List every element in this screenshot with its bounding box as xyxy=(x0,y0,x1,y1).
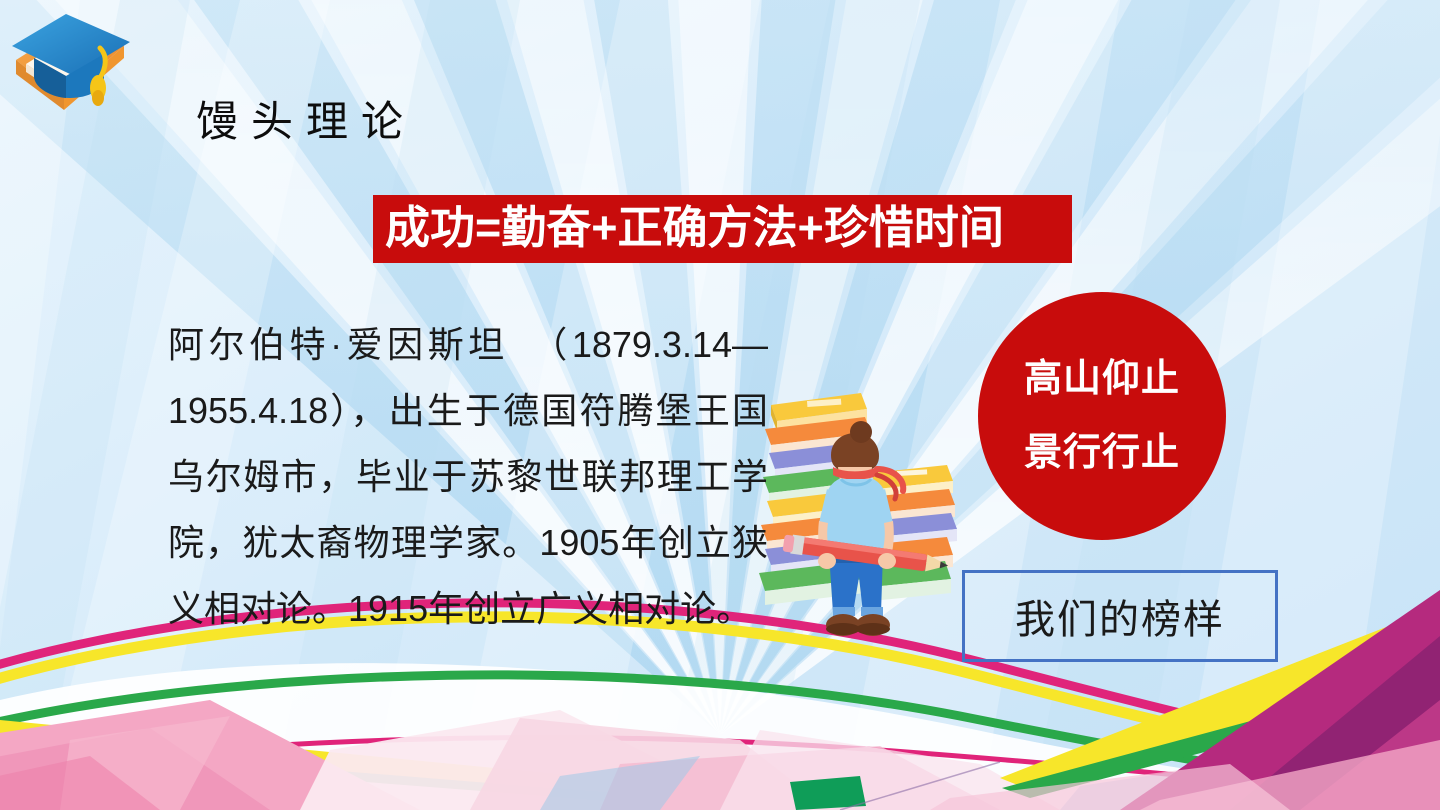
circle-stamp: 高山仰止 景行行止 xyxy=(978,292,1226,540)
graduation-cap-icon xyxy=(4,2,136,124)
slide-canvas: 馒头理论 成功=勤奋+正确方法+珍惜时间 阿尔伯特·爱因斯坦 （1879.3.1… xyxy=(0,0,1440,810)
headline-banner: 成功=勤奋+正确方法+珍惜时间 xyxy=(373,195,1072,259)
headline-text: 成功=勤奋+正确方法+珍惜时间 xyxy=(373,195,1055,259)
circle-stamp-line-1: 高山仰止 xyxy=(1024,342,1180,416)
circle-stamp-line-2: 景行行止 xyxy=(1024,416,1180,490)
boy-with-pencil-and-book-stack-illustration xyxy=(735,363,985,658)
page-title: 馒头理论 xyxy=(196,88,416,149)
role-box: 我们的榜样 xyxy=(962,570,1278,662)
role-box-label: 我们的榜样 xyxy=(1015,587,1225,645)
biography-paragraph: 阿尔伯特·爱因斯坦 （1879.3.14—1955.4.18），出生于德国符腾堡… xyxy=(168,312,768,642)
